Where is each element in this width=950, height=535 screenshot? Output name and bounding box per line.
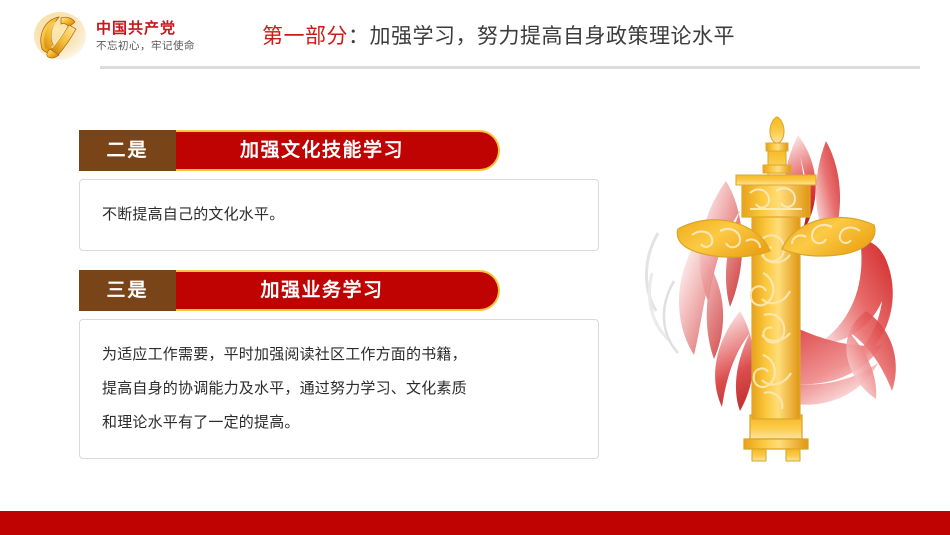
section-banner-2-pill[interactable]: 加强业务学习 (172, 270, 500, 311)
section-banner-2-tag-label: 三是 (106, 281, 148, 300)
section-banner-2-title: 加强业务学习 (260, 281, 383, 300)
huabiao-column-with-red-ribbons-icon (630, 105, 940, 470)
section-banner-1-pill[interactable]: 加强文化技能学习 (172, 130, 500, 171)
slide-header: 中国共产党 不忘初心，牢记使命 第一部分：加强学习，努力提高自身政策理论水平 (0, 0, 950, 68)
page-title-rest: ：加强学习，努力提高自身政策理论水平 (348, 25, 735, 48)
content-card-2-body: 为适应工作需要，平时加强阅读社区工作方面的书籍， 提高自身的协调能力及水平，通过… (102, 338, 576, 440)
section-banner-1: 加强文化技能学习 二是 (79, 130, 500, 171)
content-card-2-line-2: 提高自身的协调能力及水平，通过努力学习、文化素质 (102, 372, 576, 406)
section-banner-2: 加强业务学习 三是 (79, 270, 500, 311)
content-block-1: 加强文化技能学习 二是 不断提高自己的文化水平。 (79, 130, 599, 251)
content-card-1-line-1: 不断提高自己的文化水平。 (102, 198, 284, 232)
section-banner-1-tag[interactable]: 二是 (79, 130, 176, 171)
section-banner-2-tag[interactable]: 三是 (79, 270, 176, 311)
brand-subtitle: 不忘初心，牢记使命 (96, 40, 195, 52)
brand-title: 中国共产党 (96, 20, 195, 37)
content-card-1-body: 不断提高自己的文化水平。 (102, 198, 284, 232)
content-card-2-line-3: 和理论水平有了一定的提高。 (102, 406, 576, 440)
content-card-1: 不断提高自己的文化水平。 (79, 179, 599, 251)
header-divider (100, 66, 920, 69)
brand-lockup: 中国共产党 不忘初心，牢记使命 (32, 9, 195, 61)
section-banner-1-title: 加强文化技能学习 (240, 141, 404, 160)
content-block-2: 加强业务学习 三是 为适应工作需要，平时加强阅读社区工作方面的书籍， 提高自身的… (79, 270, 599, 459)
footer-bar (0, 511, 950, 535)
cpc-hammer-sickle-emblem-icon (32, 9, 88, 61)
content-card-2: 为适应工作需要，平时加强阅读社区工作方面的书籍， 提高自身的协调能力及水平，通过… (79, 319, 599, 459)
slide: 中国共产党 不忘初心，牢记使命 第一部分：加强学习，努力提高自身政策理论水平 加… (0, 0, 950, 535)
brand-text: 中国共产党 不忘初心，牢记使命 (96, 18, 195, 51)
page-title-accent: 第一部分 (262, 25, 348, 48)
section-banner-1-tag-label: 二是 (106, 141, 148, 160)
content-card-2-line-1: 为适应工作需要，平时加强阅读社区工作方面的书籍， (102, 338, 576, 372)
page-title: 第一部分：加强学习，努力提高自身政策理论水平 (262, 26, 735, 47)
